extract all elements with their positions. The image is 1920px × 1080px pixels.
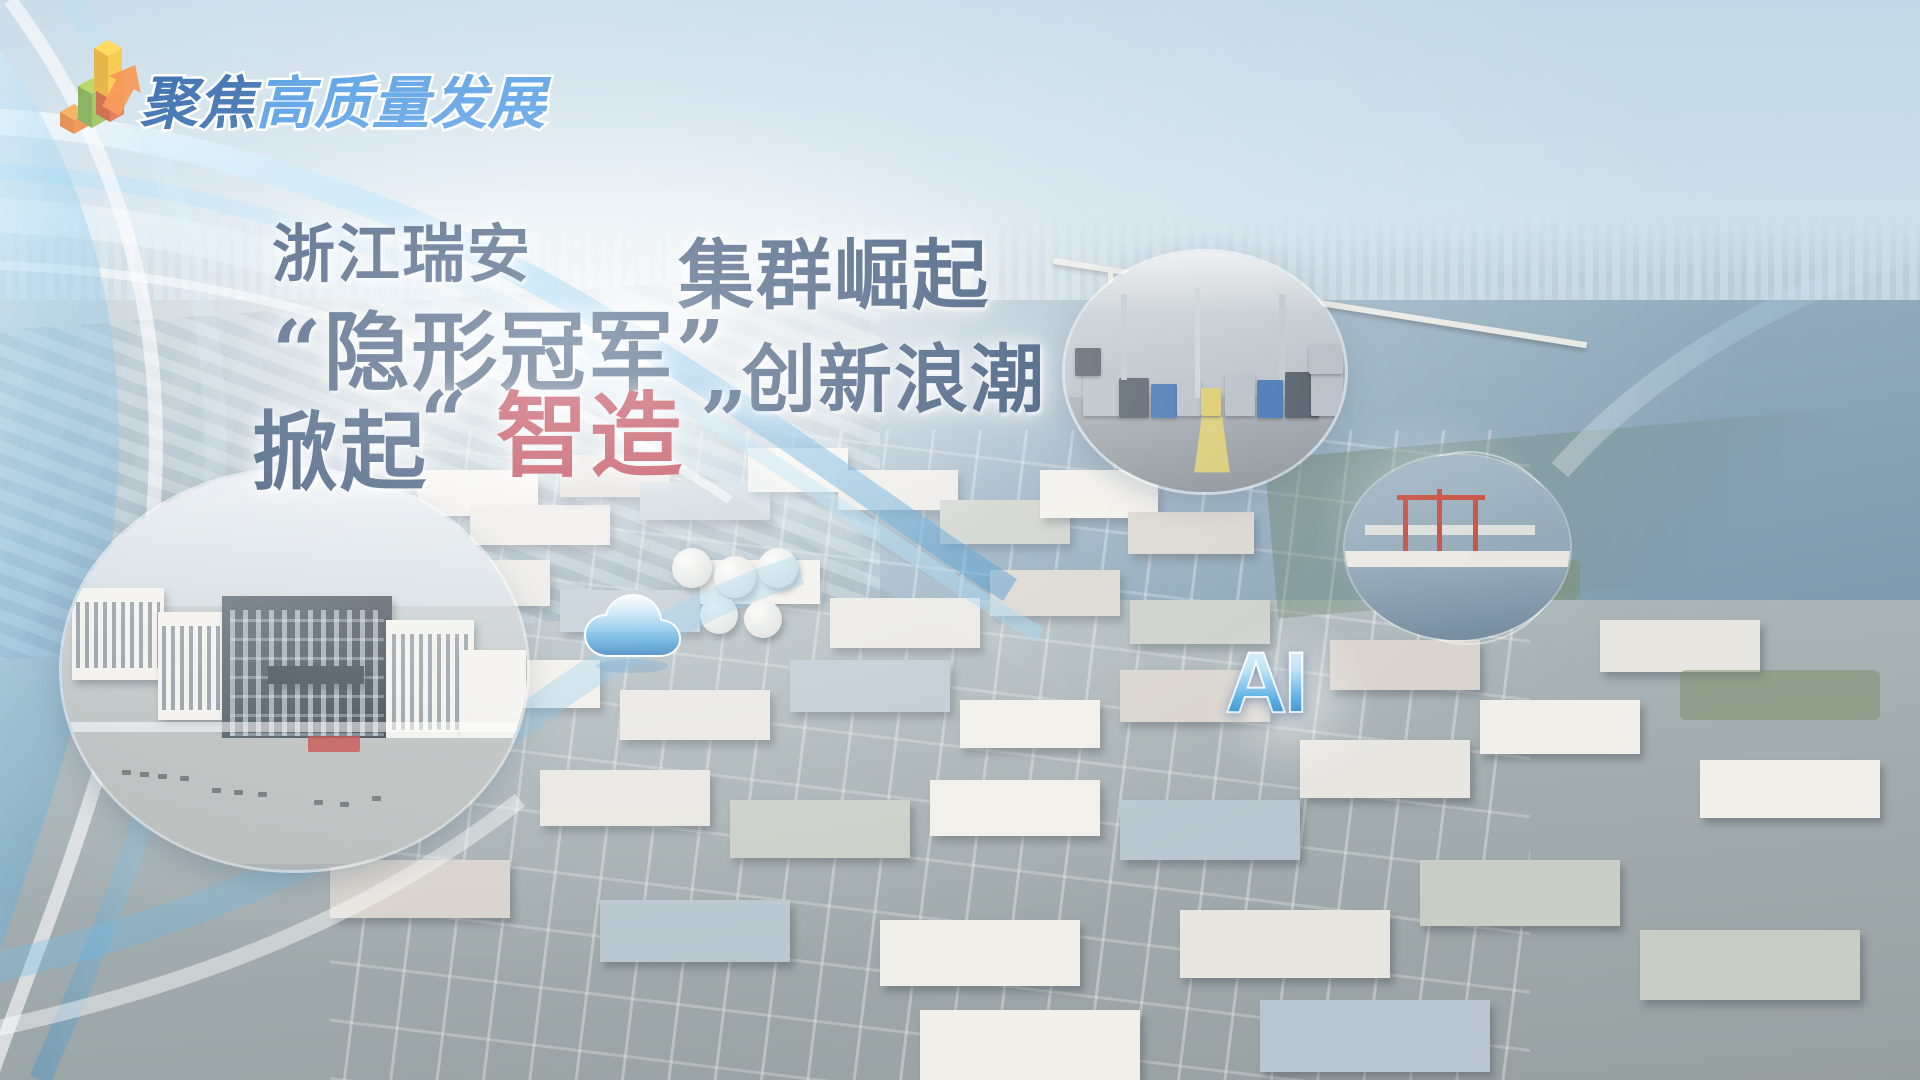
program-logo-text: 聚焦高质量发展 [140,76,546,133]
storage-tank [744,600,782,638]
office-building-photo [62,470,527,870]
headline-line-innovation-wave: 创新浪潮 [742,320,1046,427]
program-logo: 聚焦高质量发展 聚焦高质量发展 [48,28,528,146]
storage-tank [758,548,798,588]
ai-badge-label: AI [1225,640,1355,726]
headline-accent-zhizao: 智造 [496,362,684,495]
ai-badge: AI [1225,640,1355,748]
logo-text-quality-fill: 高质量发展 [256,72,546,136]
storage-tank [700,596,738,634]
port-terminal-photo [1345,455,1570,640]
cloud-computing-icon [578,590,686,676]
bar-chart-growth-icon [56,36,151,136]
storage-tank [672,548,712,588]
banner-stage: AI 浙江瑞安 集群崛起 “隐形冠军” 创新浪潮 掀起 “ 智造 ” [0,0,1920,1080]
logo-text-focus-fill: 聚焦 [140,72,256,136]
headline-quote-close: ” [700,374,749,470]
headline-quote-open: “ [420,374,469,470]
headline-line-stirring: 掀起 [252,382,428,507]
factory-workshop-photo [1065,252,1345,492]
storage-tank [714,556,756,598]
